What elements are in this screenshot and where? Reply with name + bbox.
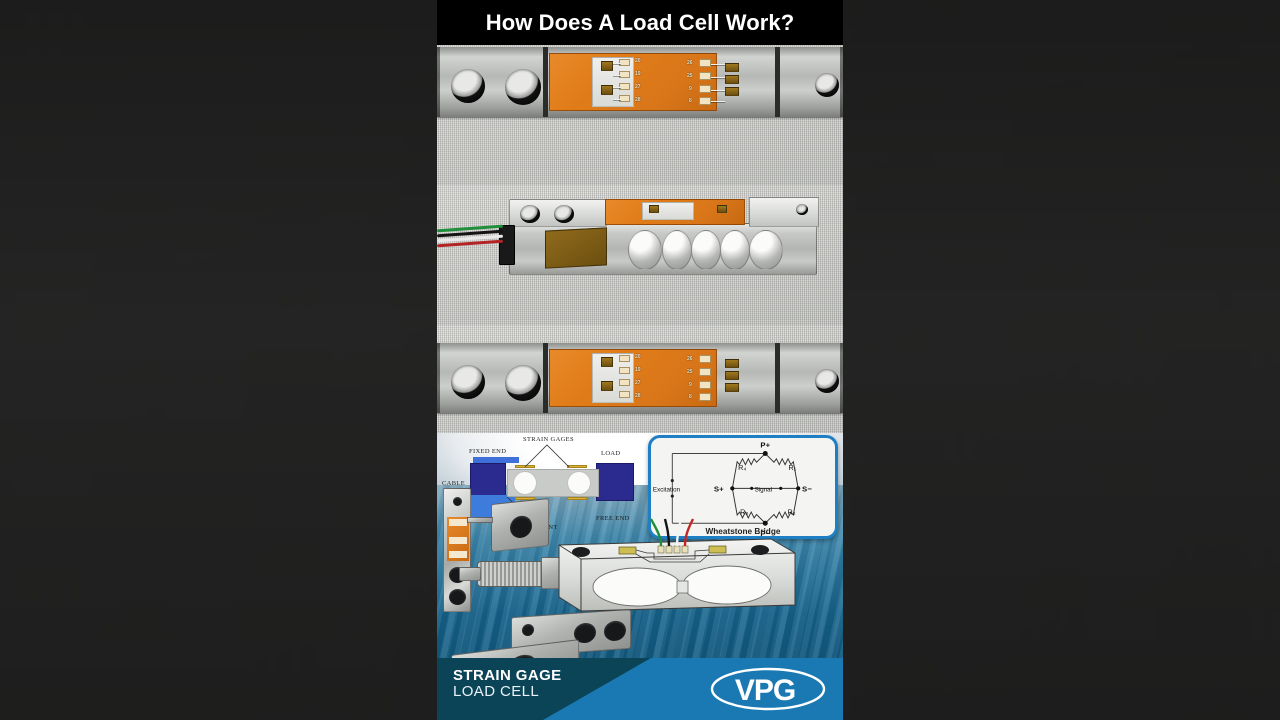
pad-number-2: 27	[635, 84, 641, 90]
product-s-beam-bore	[510, 515, 532, 539]
product-pad-row-1	[449, 519, 467, 526]
brand-band: STRAIN GAGE LOAD CELL VPG	[437, 658, 843, 720]
video-title-bar: How Does A Load Cell Work?	[437, 0, 843, 45]
cutaway-load-cell-svg	[555, 531, 801, 617]
solder-pad-h	[699, 97, 711, 105]
strain-gage-pad-2-4	[725, 371, 739, 380]
load-cell-beam-2: 20 19 27 28 26 25 9 8	[437, 343, 843, 413]
cell-gage-2	[717, 205, 727, 213]
solder-pad-2-f	[699, 368, 711, 376]
beam-hole-right	[815, 73, 839, 97]
wheatstone-bridge-diagram: P+ P− S+ S− R₄ R₁ R₃ R₂ Excitation Signa…	[651, 438, 835, 539]
solder-pad-2-g	[699, 381, 711, 389]
node-p-plus: P+	[760, 441, 770, 450]
pad2-number-7: 8	[689, 394, 692, 400]
node-s-plus: S+	[714, 484, 724, 493]
photo-flex-pcb-beam-top: 20 19 27 28 26 25 9 8	[437, 45, 843, 185]
cell-mount-block	[509, 199, 607, 227]
solder-pad-2-c	[619, 379, 630, 386]
solder-pad-2-d	[619, 391, 630, 398]
photo-single-point-load-cell	[437, 185, 843, 325]
pad-number-3: 28	[635, 97, 641, 103]
node-s-minus: S−	[802, 484, 812, 493]
photo-flex-pcb-beam-repeat: 20 19 27 28 26 25 9 8	[437, 325, 843, 433]
solder-pad-2-a	[619, 355, 630, 362]
pad-number-7: 8	[689, 98, 692, 104]
cell-circuit-board	[545, 227, 607, 268]
solder-pad-f	[699, 72, 711, 80]
beam2-hole-right	[815, 369, 839, 393]
resistor-r1: R₁	[788, 463, 796, 472]
pad2-number-6: 9	[689, 382, 692, 388]
strain-gage-pad-2-5	[725, 383, 739, 392]
cell-pocket-2	[662, 230, 692, 270]
resistor-r4: R₄	[738, 463, 746, 472]
cell-pocket-3	[691, 230, 721, 270]
beam2-hole-left-2	[505, 365, 541, 401]
brand-text: STRAIN GAGE LOAD CELL	[453, 668, 562, 700]
pad2-number-3: 28	[635, 393, 641, 399]
vpg-logo-text: VPG	[735, 674, 795, 707]
cell-end-hole	[796, 204, 808, 215]
cell-mount-hole-1	[520, 205, 540, 223]
resistor-r2: R₂	[788, 507, 796, 516]
wheatstone-bridge-callout: P+ P− S+ S− R₄ R₁ R₃ R₂ Excitation Signa…	[648, 435, 838, 539]
strain-gage-pad-4	[725, 75, 739, 84]
beam2-rail-left	[543, 343, 548, 413]
product-shear-bore-2	[604, 620, 626, 642]
bond-wire-2	[613, 75, 621, 76]
product-s-beam-stud	[467, 517, 493, 523]
bond-wire-1	[613, 63, 621, 64]
cell-pocket-1	[628, 230, 662, 270]
beam-hole-left-2	[505, 69, 541, 105]
pad2-number-1: 19	[635, 367, 641, 373]
cell-pocket-5	[749, 230, 783, 270]
strain-gage-pad-2-1	[601, 357, 613, 367]
pad-number-6: 9	[689, 86, 692, 92]
product-s-beam-flat	[443, 488, 471, 612]
page-title: How Does A Load Cell Work?	[486, 10, 795, 36]
solder-pad-g	[699, 85, 711, 93]
pad2-number-2: 27	[635, 380, 641, 386]
pad2-number-0: 20	[635, 354, 641, 360]
product-hole-a	[453, 497, 462, 506]
cell-gage-1	[649, 205, 659, 213]
bond-wire-7	[711, 90, 725, 91]
beam2-hole-left-1	[451, 365, 485, 399]
beam2-rail-right	[775, 343, 780, 413]
pad2-number-5: 25	[687, 369, 693, 375]
pad2-number-4: 26	[687, 356, 693, 362]
brand-line-1: STRAIN GAGE	[453, 668, 562, 684]
beam-hole-left-1	[451, 69, 485, 103]
product-canister-load-cell	[477, 561, 551, 587]
solder-pad-2-b	[619, 367, 630, 374]
pad-number-1: 19	[635, 71, 641, 77]
strain-gage-pad-2-3	[725, 359, 739, 368]
beam-rail-right	[775, 47, 780, 117]
beam-rail-left	[543, 47, 548, 117]
strain-gage-pad-3	[725, 63, 739, 72]
product-shear-hole-1	[522, 624, 534, 637]
terminal-signal: Signal	[755, 486, 772, 493]
cell-pocket-4	[720, 230, 750, 270]
bond-wire-4	[613, 99, 621, 100]
vpg-logo-svg: VPG	[709, 666, 827, 712]
resistor-r3: R₃	[740, 507, 748, 516]
pad-number-4: 26	[687, 60, 693, 66]
product-canister-tip	[459, 567, 481, 581]
bond-wire-6	[711, 77, 725, 78]
pad-number-0: 20	[635, 58, 641, 64]
short-video-panel: How Does A Load Cell Work?	[437, 0, 843, 720]
bond-wire-3	[613, 87, 621, 88]
cell-end-block	[749, 197, 819, 227]
strain-gage-pad-1	[601, 61, 613, 71]
solder-pad-2-h	[699, 393, 711, 401]
solder-pad-2-e	[699, 355, 711, 363]
strain-gage-pad-2	[601, 85, 613, 95]
cutaway-load-cell-illustration	[555, 531, 801, 617]
vpg-logo[interactable]: VPG	[709, 666, 827, 712]
strain-gage-pad-5	[725, 87, 739, 96]
video-frame: How Does A Load Cell Work?	[0, 0, 1280, 720]
pad-number-5: 25	[687, 73, 693, 79]
bond-wire-8	[711, 101, 725, 102]
strain-gage-pad-2-2	[601, 381, 613, 391]
terminal-excitation: Excitation	[653, 486, 681, 493]
product-s-beam-load-cell	[491, 498, 549, 552]
infographic-panel: FIXED END STRAIN GAGES LOAD CABLE ELEMEN…	[437, 433, 843, 720]
product-pad-row-3	[449, 551, 467, 558]
brand-line-2: LOAD CELL	[453, 684, 562, 700]
product-hole-c	[449, 589, 466, 605]
product-pad-row-2	[449, 537, 467, 544]
bond-wire-5	[711, 64, 725, 65]
solder-pad-e	[699, 59, 711, 67]
cell-mount-hole-2	[554, 205, 574, 223]
load-cell-beam: 20 19 27 28 26 25 9 8	[437, 47, 843, 117]
